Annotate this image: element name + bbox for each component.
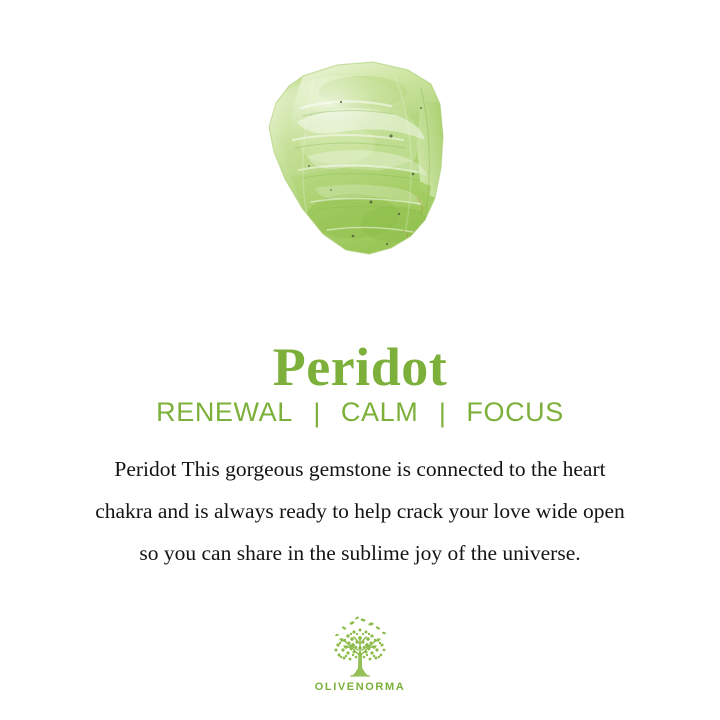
keyword-separator: |: [426, 397, 459, 429]
keyword-focus: FOCUS: [466, 397, 564, 427]
brand-logo: OLIVENORMA: [0, 612, 720, 693]
description-line: chakra and is always ready to help crack…: [20, 490, 700, 532]
keyword-renewal: RENEWAL: [156, 397, 293, 427]
gemstone-image: [0, 40, 720, 280]
keyword-separator: |: [300, 397, 333, 429]
description-line: so you can share in the sublime joy of t…: [20, 532, 700, 574]
description-line: Peridot This gorgeous gemstone is connec…: [20, 448, 700, 490]
keyword-list: RENEWAL | CALM | FOCUS: [0, 396, 720, 428]
brand-wordmark: OLIVENORMA: [315, 681, 406, 693]
product-card: Peridot RENEWAL | CALM | FOCUS Peridot T…: [0, 0, 720, 720]
stone-body: [245, 48, 475, 273]
keyword-calm: CALM: [341, 397, 418, 427]
foliage-stipple: [335, 616, 387, 660]
page-title: Peridot: [0, 336, 720, 398]
olive-tree-icon: [322, 612, 398, 680]
peridot-rough-crystal-illustration: [245, 48, 475, 273]
description-text: Peridot This gorgeous gemstone is connec…: [20, 448, 700, 574]
